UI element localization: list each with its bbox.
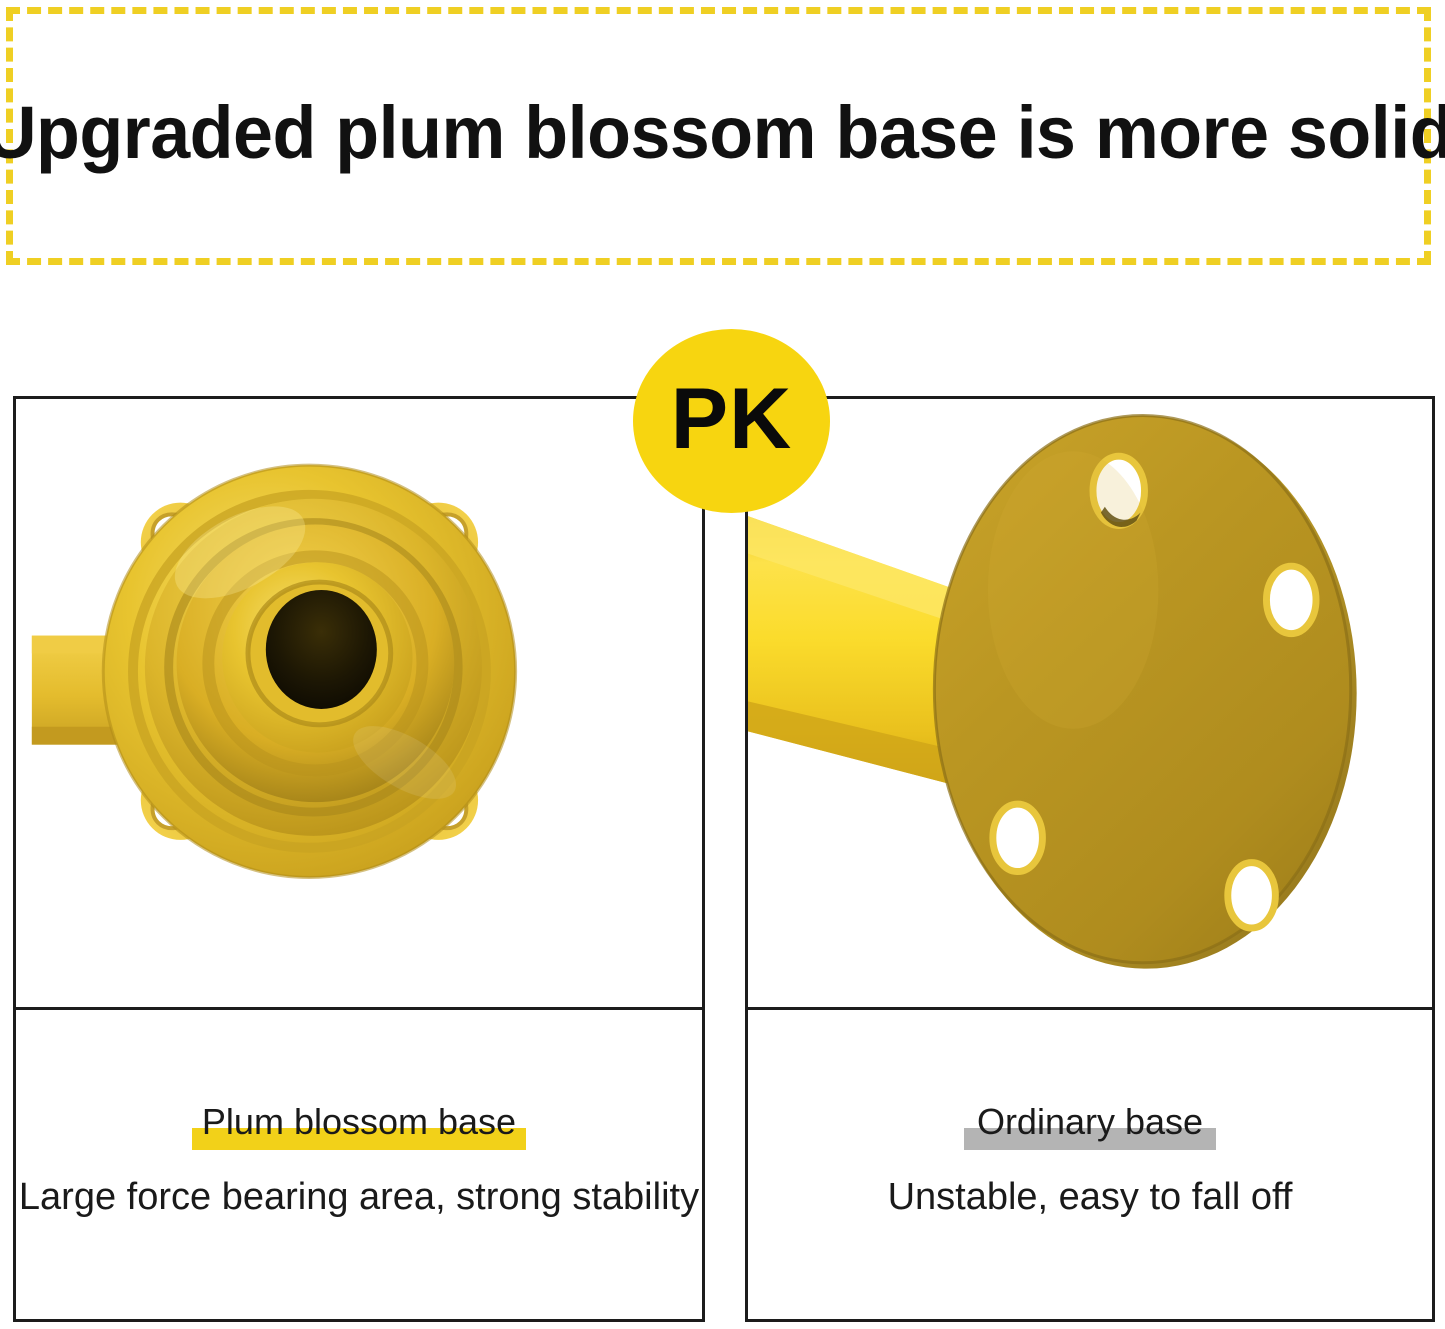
caption-left: Plum blossom base Large force bearing ar… bbox=[16, 1010, 702, 1319]
product-photo-ordinary-base bbox=[748, 399, 1432, 1007]
caption-subtitle-right: Unstable, easy to fall off bbox=[748, 1176, 1432, 1219]
title-banner: Upgraded plum blossom base is more solid bbox=[6, 7, 1431, 265]
caption-subtitle-left: Large force bearing area, strong stabili… bbox=[16, 1176, 702, 1219]
round-base-plate bbox=[934, 416, 1356, 969]
plum-blossom-base-illustration bbox=[16, 399, 702, 1007]
comparison-panel-right: Ordinary base Unstable, easy to fall off bbox=[745, 396, 1435, 1322]
ordinary-base-illustration bbox=[748, 399, 1432, 1007]
caption-title-left: Plum blossom base bbox=[202, 1101, 516, 1142]
caption-title-right: Ordinary base bbox=[977, 1101, 1203, 1142]
center-bore bbox=[266, 590, 377, 709]
infographic-page: Upgraded plum blossom base is more solid bbox=[0, 0, 1445, 1329]
pk-label: PK bbox=[671, 376, 792, 466]
page-title: Upgraded plum blossom base is more solid bbox=[0, 96, 1445, 176]
caption-right: Ordinary base Unstable, easy to fall off bbox=[748, 1010, 1432, 1319]
product-photo-plum-blossom-base bbox=[16, 399, 702, 1007]
pk-versus-badge: PK bbox=[633, 329, 830, 513]
comparison-panel-left: Plum blossom base Large force bearing ar… bbox=[13, 396, 705, 1322]
